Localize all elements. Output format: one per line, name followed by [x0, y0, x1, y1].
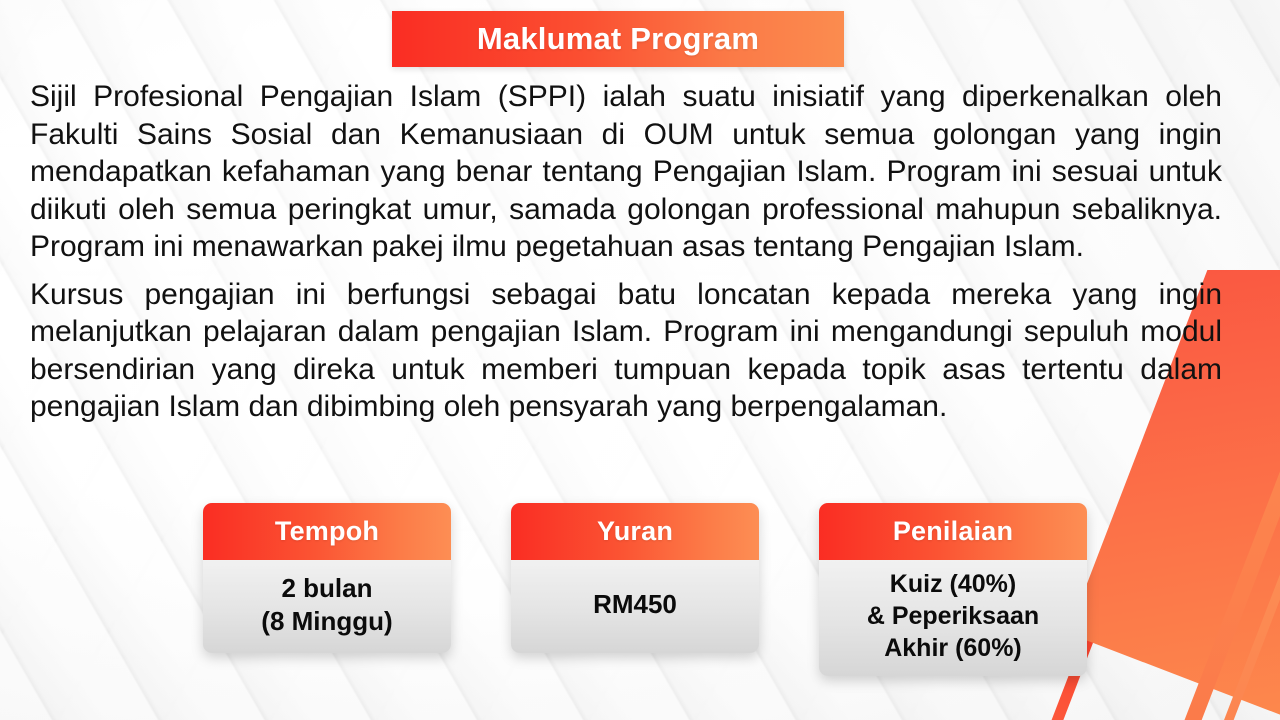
slide-canvas: Maklumat Program Sijil Profesional Penga…: [0, 0, 1280, 720]
info-card-tempoh-heading: Tempoh: [275, 516, 379, 547]
info-card-yuran: Yuran RM450: [511, 503, 759, 653]
info-card-yuran-header: Yuran: [511, 503, 759, 560]
info-card-penilaian-line-2: & Peperiksaan: [867, 600, 1039, 632]
info-card-penilaian-body: Kuiz (40%) & Peperiksaan Akhir (60%): [819, 560, 1087, 676]
paragraph-1: Sijil Profesional Pengajian Islam (SPPI)…: [30, 78, 1222, 266]
info-card-row: Tempoh 2 bulan (8 Minggu) Yuran RM450 Pe…: [0, 503, 1280, 676]
title-banner: Maklumat Program: [392, 11, 844, 67]
info-card-tempoh: Tempoh 2 bulan (8 Minggu): [203, 503, 451, 653]
page-title: Maklumat Program: [477, 21, 759, 57]
info-card-penilaian-line-1: Kuiz (40%): [890, 568, 1016, 600]
info-card-penilaian-line-3: Akhir (60%): [884, 632, 1022, 664]
info-card-tempoh-line-1: 2 bulan: [281, 572, 372, 605]
body-copy: Sijil Profesional Pengajian Islam (SPPI)…: [30, 78, 1222, 426]
info-card-yuran-body: RM450: [511, 560, 759, 653]
paragraph-2: Kursus pengajian ini berfungsi sebagai b…: [30, 276, 1222, 426]
info-card-yuran-heading: Yuran: [597, 516, 673, 547]
info-card-penilaian-header: Penilaian: [819, 503, 1087, 560]
info-card-tempoh-body: 2 bulan (8 Minggu): [203, 560, 451, 653]
info-card-tempoh-header: Tempoh: [203, 503, 451, 560]
info-card-tempoh-line-2: (8 Minggu): [261, 605, 392, 638]
info-card-penilaian-heading: Penilaian: [893, 516, 1013, 547]
info-card-penilaian: Penilaian Kuiz (40%) & Peperiksaan Akhir…: [819, 503, 1087, 676]
info-card-yuran-line-1: RM450: [593, 588, 677, 621]
